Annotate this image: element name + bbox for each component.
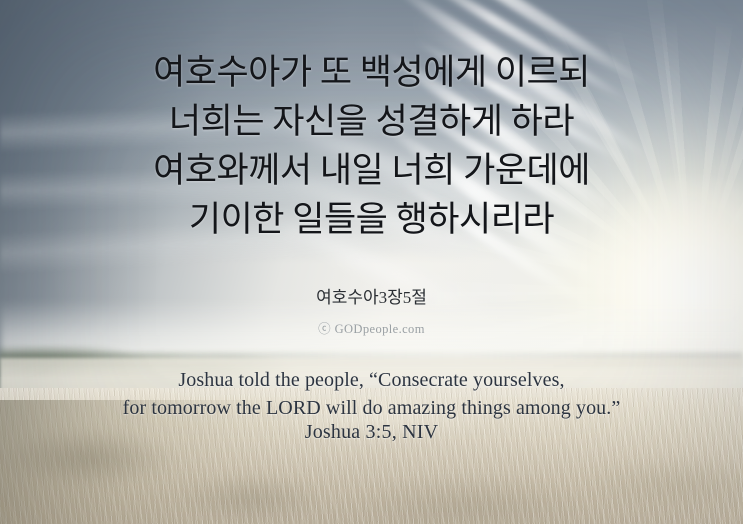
copyright-notice: ⓒ GODpeople.com bbox=[0, 318, 743, 337]
english-verse-line-1: Joshua told the people, “Consecrate your… bbox=[0, 366, 743, 394]
korean-verse-text: 여호수아가 또 백성에게 이르되 너희는 자신을 성결하게 하라 여호와께서 내… bbox=[0, 48, 743, 244]
verse-image-card: 여호수아가 또 백성에게 이르되 너희는 자신을 성결하게 하라 여호와께서 내… bbox=[0, 0, 743, 524]
korean-verse-line-4: 기이한 일들을 행하시리라 bbox=[0, 195, 743, 244]
korean-verse-line-3: 여호와께서 내일 너희 가운데에 bbox=[0, 146, 743, 195]
english-verse-text: Joshua told the people, “Consecrate your… bbox=[0, 366, 743, 422]
korean-verse-line-1: 여호수아가 또 백성에게 이르되 bbox=[0, 48, 743, 97]
korean-verse-line-2: 너희는 자신을 성결하게 하라 bbox=[0, 97, 743, 146]
english-verse-line-2: for tomorrow the LORD will do amazing th… bbox=[0, 394, 743, 422]
korean-reference: 여호수아3장5절 bbox=[0, 283, 743, 308]
english-reference: Joshua 3:5, NIV bbox=[0, 421, 743, 444]
text-overlay: 여호수아가 또 백성에게 이르되 너희는 자신을 성결하게 하라 여호와께서 내… bbox=[0, 0, 743, 524]
